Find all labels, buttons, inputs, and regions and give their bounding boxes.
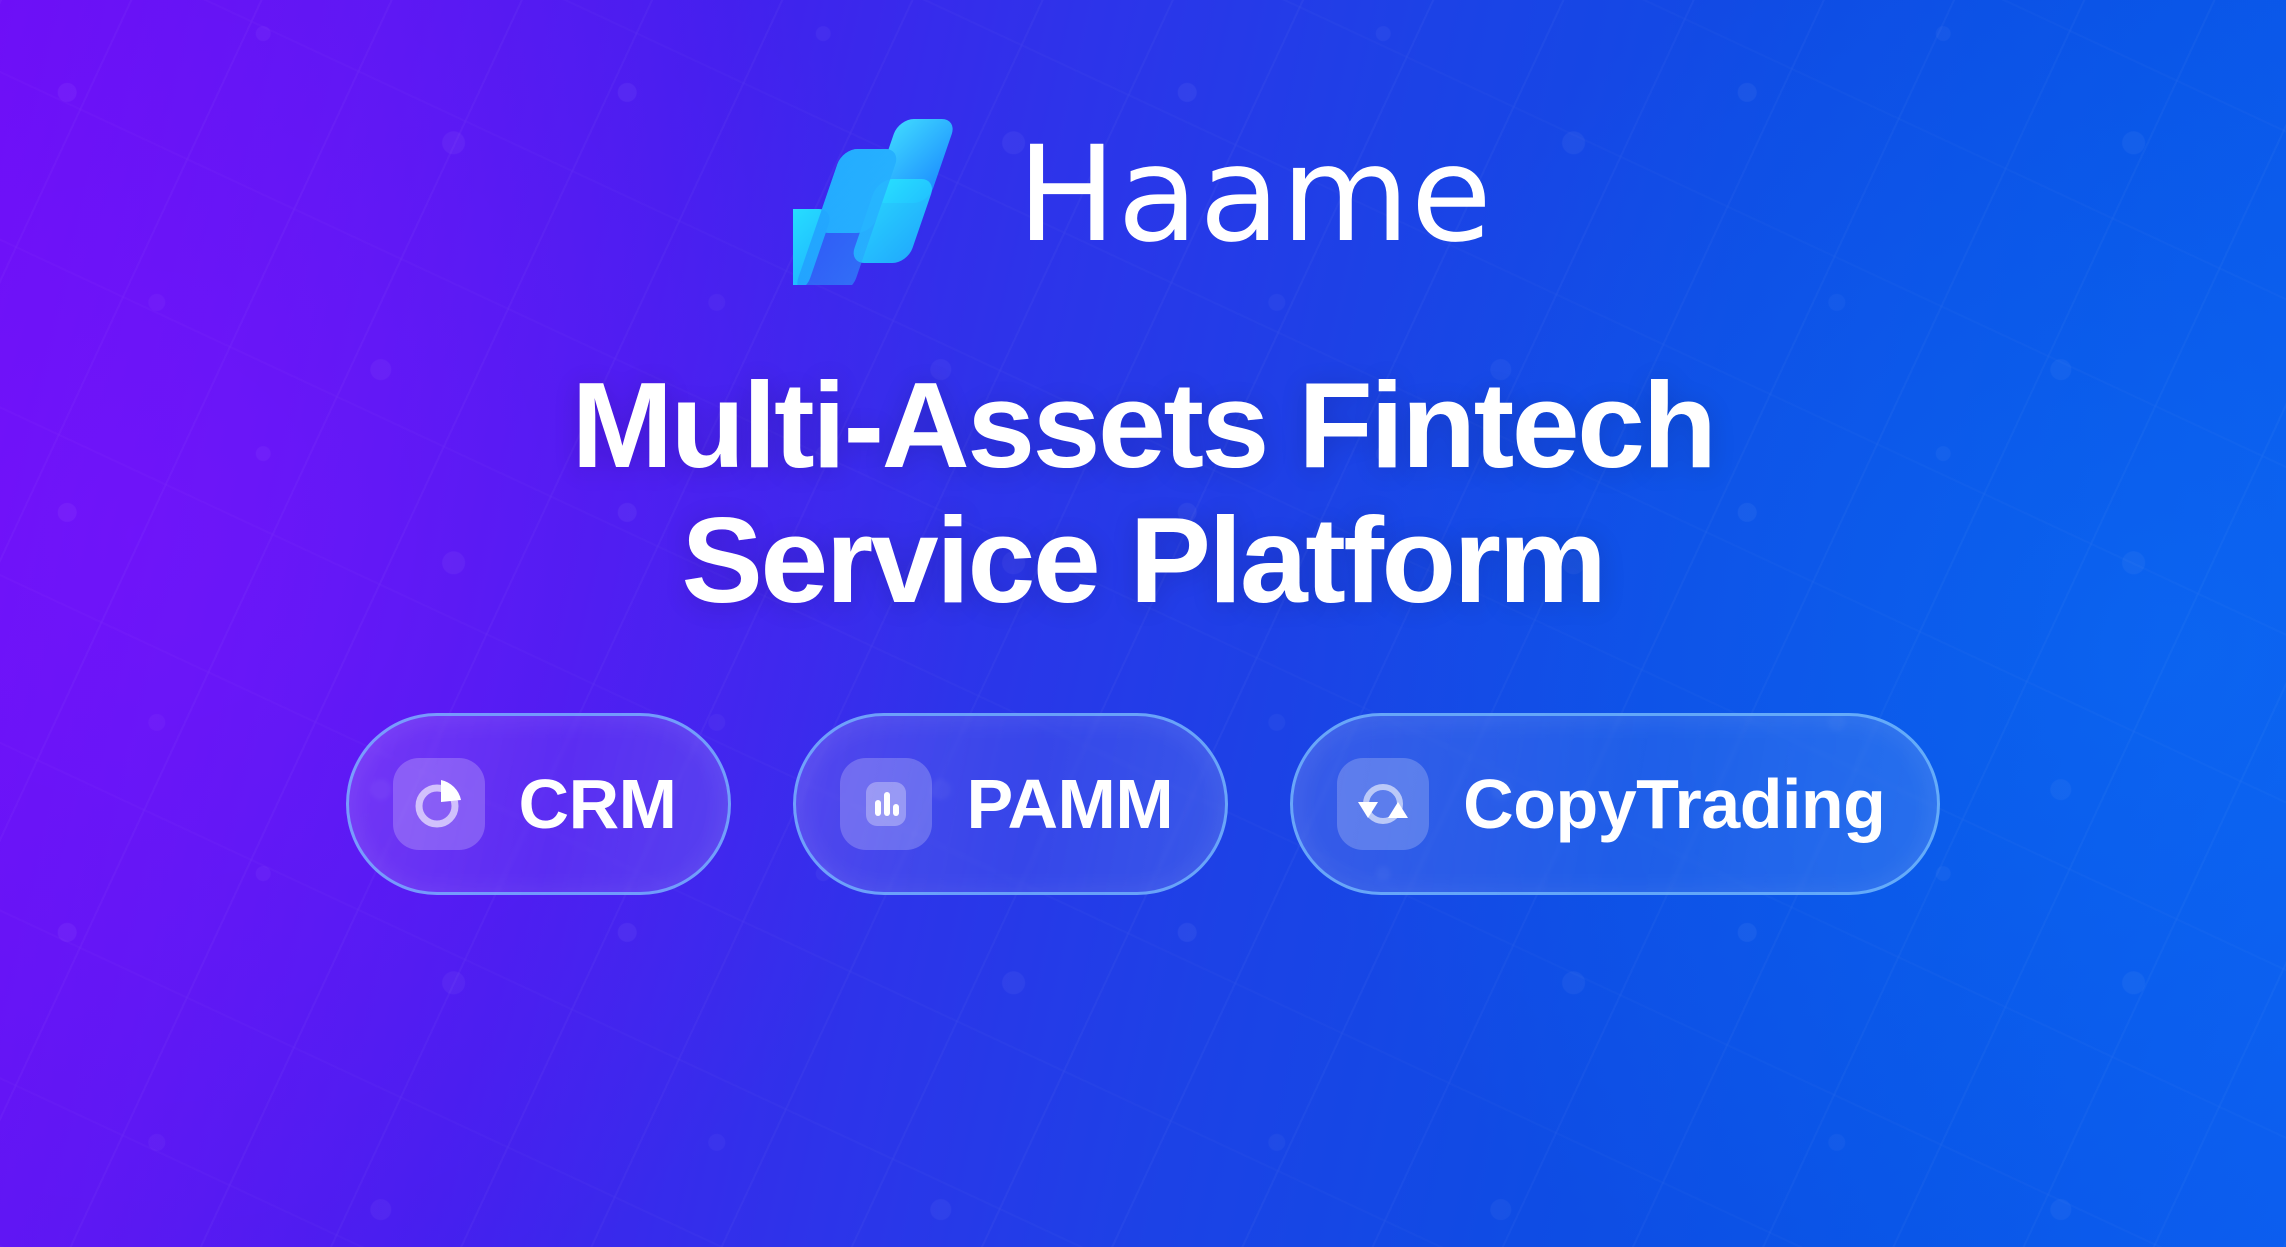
brand-name: Haame (1017, 129, 1493, 261)
feature-badge-row: CRM PAMM (346, 713, 1941, 895)
feature-badge-label: CRM (519, 769, 677, 839)
feature-badge-pamm[interactable]: PAMM (793, 713, 1228, 895)
haame-logo-mark-icon (793, 113, 965, 285)
feature-badge-copytrading[interactable]: CopyTrading (1290, 713, 1940, 895)
page-title: Multi-Assets Fintech Service Platform (571, 358, 1714, 629)
hero-content: Haame Multi-Assets Fintech Service Platf… (0, 0, 2286, 1247)
feature-badge-label: PAMM (966, 769, 1173, 839)
headline-line-1: Multi-Assets Fintech (571, 358, 1714, 493)
brand-lockup: Haame (793, 104, 1493, 294)
bar-chart-icon (840, 758, 932, 850)
sync-arrows-icon (1337, 758, 1429, 850)
hero-banner: Haame Multi-Assets Fintech Service Platf… (0, 0, 2286, 1247)
pie-chart-icon (393, 758, 485, 850)
headline-line-2: Service Platform (571, 493, 1714, 628)
feature-badge-label: CopyTrading (1463, 769, 1885, 839)
feature-badge-crm[interactable]: CRM (346, 713, 732, 895)
